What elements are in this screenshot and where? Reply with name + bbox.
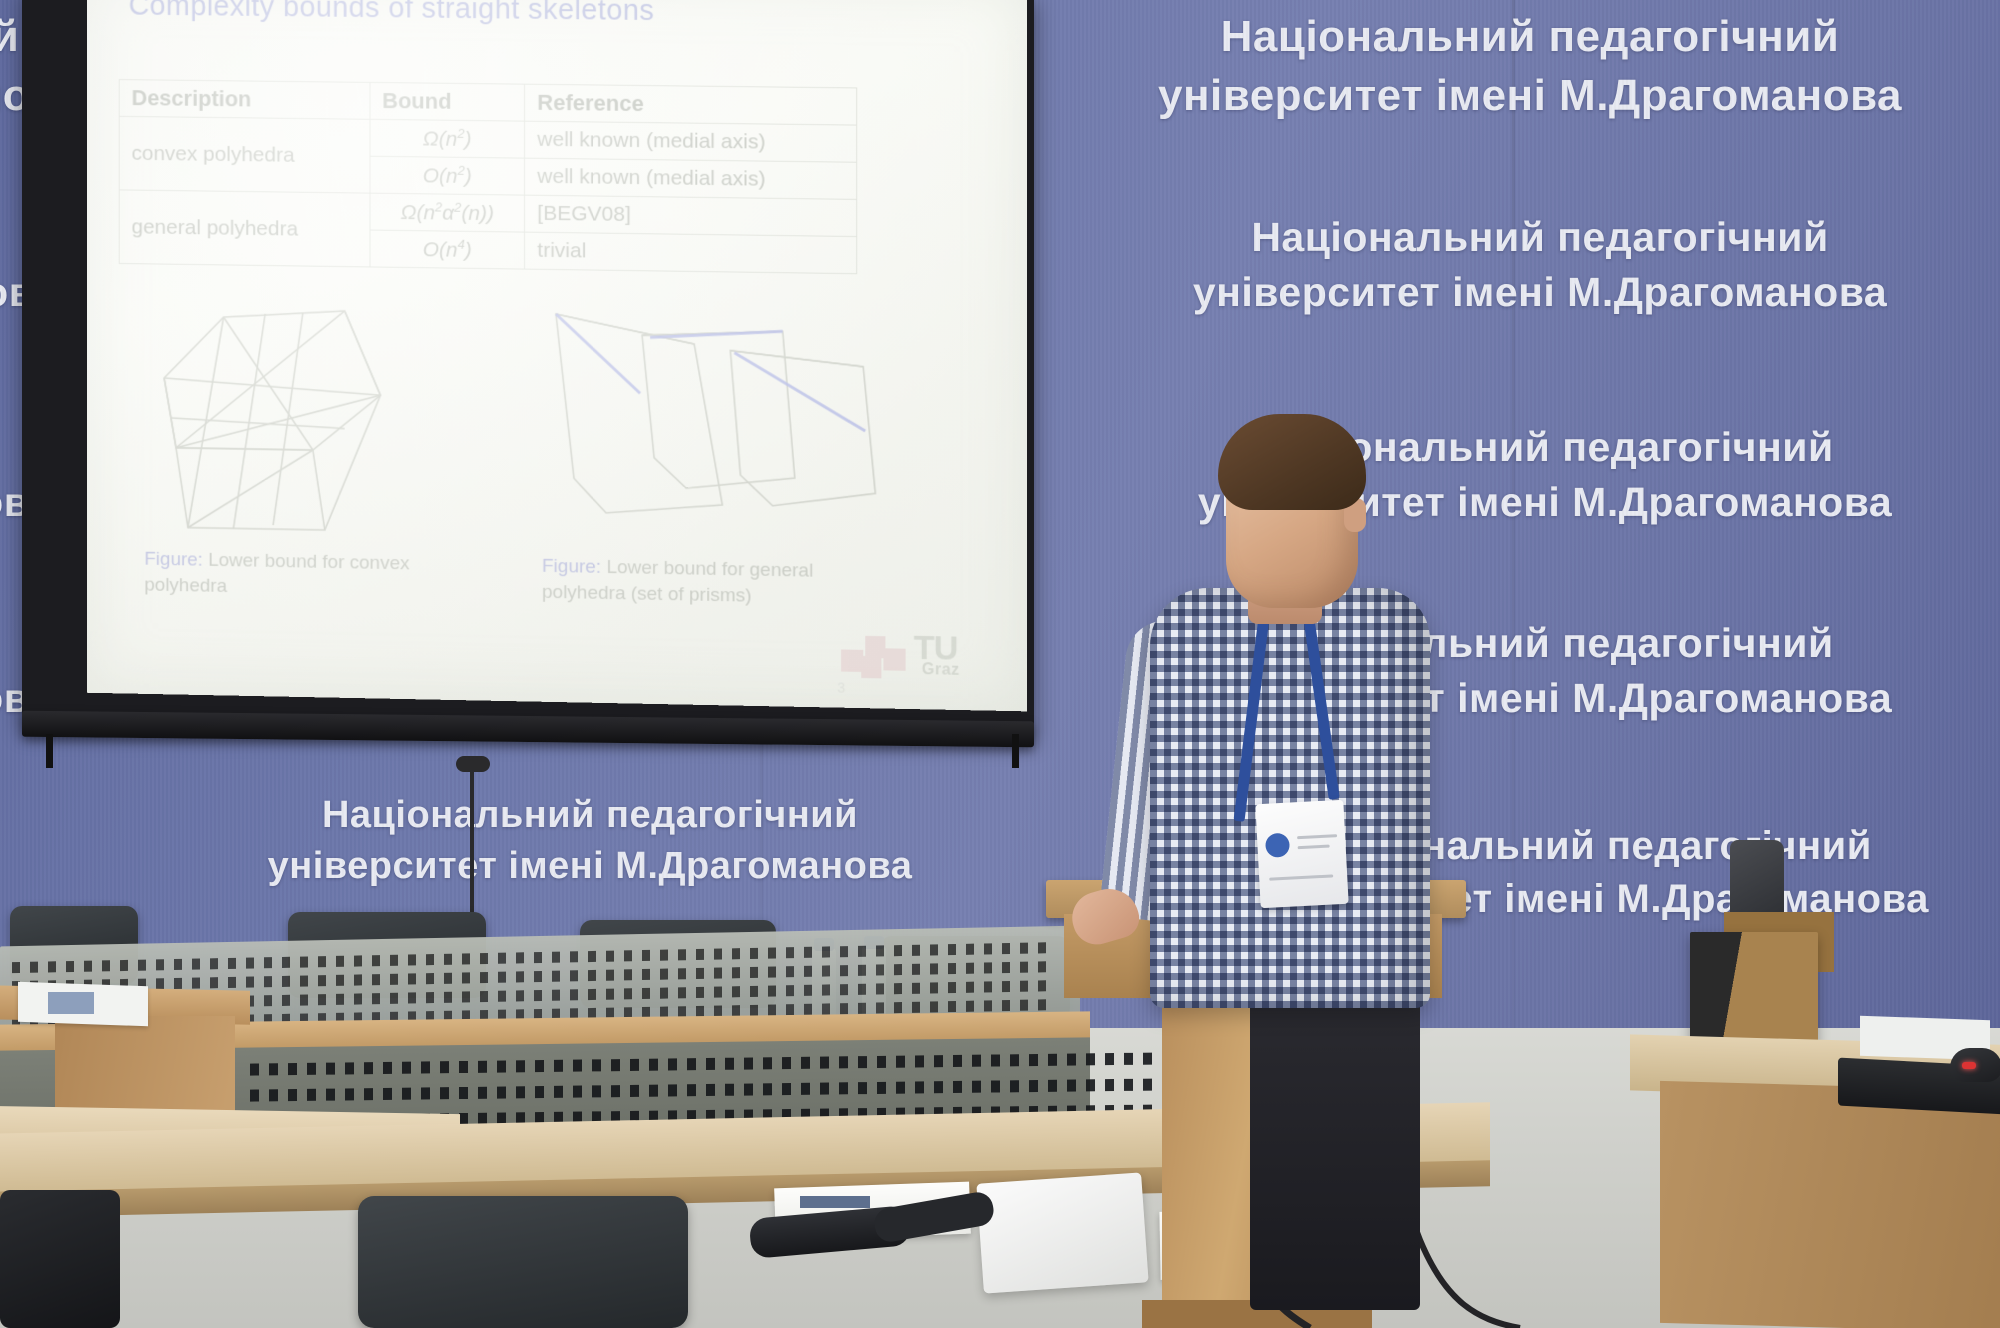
panel-perforation — [246, 976, 254, 987]
bench-perforation — [763, 1083, 772, 1095]
bench-perforation — [421, 1087, 430, 1099]
panel-perforation — [768, 985, 776, 996]
panel-perforation — [174, 959, 182, 970]
tu-graz-mark-icon — [839, 629, 912, 687]
bench-perforation — [1010, 1080, 1019, 1092]
panel-perforation — [678, 949, 686, 960]
slide-figures: Figure: Lower bound for convex polyhedra… — [117, 300, 997, 604]
panel-perforation — [300, 994, 308, 1005]
panel-perforation — [696, 949, 704, 960]
panel-perforation — [516, 971, 524, 982]
panel-perforation — [714, 987, 722, 998]
table-row: convex polyhedra Ω(n2) well known (media… — [119, 116, 857, 162]
panel-perforation — [228, 958, 236, 969]
panel-perforation — [498, 991, 506, 1002]
panel-perforation — [84, 961, 92, 972]
bench-perforation — [592, 1085, 601, 1097]
panel-perforation — [606, 970, 614, 981]
bench-perforation — [288, 1063, 297, 1075]
cell-reference: trivial — [525, 232, 857, 274]
bench-perforation — [649, 1085, 658, 1097]
panel-perforation — [930, 1001, 938, 1012]
bench-perforation — [364, 1062, 373, 1074]
panel-perforation — [804, 985, 812, 996]
banner-text-block: Національний педагогічний університет ім… — [1080, 210, 2000, 319]
panel-perforation — [858, 1003, 866, 1014]
panel-perforation — [1038, 980, 1046, 991]
panel-perforation — [750, 1005, 758, 1016]
panel-perforation — [588, 989, 596, 1000]
screen-leg — [46, 734, 53, 768]
panel-perforation — [804, 947, 812, 958]
conference-photo-scene: Національний педагогічний університет ім… — [0, 0, 2000, 1328]
bench-perforation — [668, 1058, 677, 1070]
panel-perforation — [516, 990, 524, 1001]
panel-perforation — [534, 971, 542, 982]
panel-perforation — [282, 995, 290, 1006]
panel-perforation — [444, 992, 452, 1003]
panel-perforation — [246, 957, 254, 968]
handout-label — [800, 1196, 870, 1208]
screen-leg — [1012, 734, 1019, 768]
panel-perforation — [462, 991, 470, 1002]
bench-perforation — [497, 1086, 506, 1098]
bench-perforation — [440, 1061, 449, 1073]
bench-perforation — [440, 1087, 449, 1099]
panel-perforation — [30, 962, 38, 973]
panel-perforation — [912, 1002, 920, 1013]
panel-perforation — [786, 985, 794, 996]
panel-perforation — [714, 949, 722, 960]
bench-perforation — [1010, 1054, 1019, 1066]
bench-perforation — [668, 1084, 677, 1096]
bench-perforation — [250, 1089, 259, 1101]
bench-perforation — [706, 1084, 715, 1096]
panel-perforation — [444, 973, 452, 984]
panel-perforation — [822, 965, 830, 976]
panel-perforation — [1020, 981, 1028, 992]
panel-perforation — [840, 946, 848, 957]
panel-perforation — [1020, 962, 1028, 973]
panel-perforation — [552, 990, 560, 1001]
panel-perforation — [894, 945, 902, 956]
badge-text-line — [1297, 834, 1337, 839]
bench-perforation — [858, 1082, 867, 1094]
panel-perforation — [930, 982, 938, 993]
panel-perforation — [768, 1004, 776, 1015]
panel-perforation — [66, 961, 74, 972]
bench-perforation — [972, 1055, 981, 1067]
panel-perforation — [840, 965, 848, 976]
panel-perforation — [858, 984, 866, 995]
banner-line-2: університет імені М.Драгоманова — [190, 841, 990, 892]
panel-perforation — [768, 947, 776, 958]
panel-perforation — [822, 984, 830, 995]
banner-line-2: університет імені М.Драгоманова — [1080, 265, 2000, 320]
panel-perforation — [948, 1001, 956, 1012]
panel-perforation — [354, 993, 362, 1004]
cell-bound: O(n2) — [370, 156, 525, 195]
bench-perforation — [706, 1058, 715, 1070]
bench-perforation — [535, 1086, 544, 1098]
panel-perforation — [1002, 1000, 1010, 1011]
bench-perforation — [516, 1086, 525, 1098]
bench-perforation — [288, 1089, 297, 1101]
panel-perforation — [750, 948, 758, 959]
panel-perforation — [264, 957, 272, 968]
tu-logo-sub: Graz — [922, 661, 960, 680]
panel-perforation — [660, 988, 668, 999]
bench-perforation — [326, 1063, 335, 1075]
panel-perforation — [1020, 1000, 1028, 1011]
panel-perforation — [336, 994, 344, 1005]
bench-perforation — [820, 1057, 829, 1069]
panel-perforation — [372, 993, 380, 1004]
bench-perforation — [953, 1055, 962, 1067]
panel-perforation — [102, 960, 110, 971]
bench-perforation — [554, 1060, 563, 1072]
bench-perforation — [307, 1063, 316, 1075]
panel-perforation — [786, 966, 794, 977]
panel-perforation — [660, 950, 668, 961]
bench-perforation — [934, 1081, 943, 1093]
panel-perforation — [480, 953, 488, 964]
panel-perforation — [462, 953, 470, 964]
bench-perforation — [801, 1083, 810, 1095]
bench-perforation — [326, 1089, 335, 1101]
panel-perforation — [138, 960, 146, 971]
office-chair[interactable] — [0, 1190, 120, 1328]
cell-description: convex polyhedra — [119, 116, 370, 193]
panel-perforation — [642, 988, 650, 999]
bench-perforation — [364, 1088, 373, 1100]
panel-perforation — [984, 962, 992, 973]
bench-perforation — [269, 1063, 278, 1075]
panel-perforation — [264, 995, 272, 1006]
cell-reference: [BEGV08] — [525, 195, 857, 236]
panel-perforation — [966, 1001, 974, 1012]
panel-perforation — [912, 945, 920, 956]
bench-perforation — [459, 1061, 468, 1073]
panel-perforation — [426, 954, 434, 965]
panel-perforation — [516, 952, 524, 963]
panel-perforation — [948, 982, 956, 993]
panel-perforation — [498, 972, 506, 983]
banner-line-2: університет імені М.Драгоманова — [1060, 67, 2000, 126]
bench-perforation — [573, 1086, 582, 1098]
panel-perforation — [966, 963, 974, 974]
banner-line-1: Національний педагогічний — [1060, 8, 2000, 67]
bench-perforation — [630, 1085, 639, 1097]
panel-perforation — [1038, 942, 1046, 953]
panel-perforation — [876, 1002, 884, 1013]
panel-perforation — [642, 950, 650, 961]
panel-perforation — [822, 946, 830, 957]
slide-title: Complexity bounds of straight skeletons — [129, 0, 655, 28]
convex-polyhedron-wireframe — [146, 300, 444, 554]
bench-perforation — [345, 1088, 354, 1100]
panel-perforation — [426, 992, 434, 1003]
bench-perforation — [592, 1059, 601, 1071]
slide-page-number: 3 — [837, 680, 845, 696]
handout-image — [48, 992, 94, 1014]
panel-perforation — [660, 969, 668, 980]
panel-perforation — [408, 973, 416, 984]
panel-perforation — [426, 973, 434, 984]
panel-perforation — [480, 972, 488, 983]
bench-perforation — [877, 1056, 886, 1068]
bench-perforation — [611, 1059, 620, 1071]
panel-perforation — [552, 971, 560, 982]
panel-perforation — [300, 956, 308, 967]
panel-perforation — [840, 984, 848, 995]
panel-perforation — [876, 945, 884, 956]
figure-caption: Figure: Lower bound for general polyhedr… — [542, 554, 873, 611]
panel-perforation — [120, 960, 128, 971]
bench-perforation — [649, 1059, 658, 1071]
bench-perforation — [839, 1056, 848, 1068]
panel-perforation — [570, 951, 578, 962]
bench-perforation — [953, 1081, 962, 1093]
bench-perforation — [402, 1062, 411, 1074]
bench-perforation — [630, 1059, 639, 1071]
tu-graz-logo: TU Graz — [839, 625, 990, 688]
conference-badge — [1255, 800, 1348, 908]
bench-perforation — [478, 1061, 487, 1073]
panel-perforation — [624, 950, 632, 961]
bench-perforation — [459, 1087, 468, 1099]
bench-perforation — [915, 1055, 924, 1067]
bench-perforation — [402, 1088, 411, 1100]
cell-reference: well known (medial axis) — [525, 158, 857, 199]
bench-perforation — [896, 1056, 905, 1068]
panel-perforation — [732, 967, 740, 978]
banner-text-block: Національний педагогічний університет ім… — [1060, 8, 2000, 125]
panel-perforation — [1038, 961, 1046, 972]
bench-perforation — [611, 1085, 620, 1097]
panel-perforation — [534, 952, 542, 963]
cell-description: general polyhedra — [119, 190, 370, 267]
bench-perforation — [896, 1082, 905, 1094]
panel-perforation — [696, 968, 704, 979]
panel-perforation — [372, 955, 380, 966]
cell-reference: well known (medial axis) — [525, 121, 857, 162]
panel-perforation — [462, 972, 470, 983]
bench-perforation — [801, 1057, 810, 1069]
badge-text-line — [1269, 874, 1333, 880]
bench-perforation — [744, 1083, 753, 1095]
panel-perforation — [930, 944, 938, 955]
panel-perforation — [858, 965, 866, 976]
bench-perforation — [345, 1062, 354, 1074]
presenter-shirt — [1150, 588, 1430, 1008]
bench-perforation — [1029, 1054, 1038, 1066]
panel-perforation — [228, 977, 236, 988]
bench-perforation — [516, 1060, 525, 1072]
bench-perforation — [535, 1060, 544, 1072]
panel-perforation — [606, 989, 614, 1000]
cell-bound: Ω(n2α2(n)) — [370, 193, 525, 232]
bench-perforation — [744, 1057, 753, 1069]
panel-perforation — [732, 948, 740, 959]
bench-perforation — [554, 1086, 563, 1098]
panel-perforation — [390, 955, 398, 966]
panel-perforation — [336, 956, 344, 967]
panel-perforation — [282, 976, 290, 987]
panel-perforation — [408, 992, 416, 1003]
bench-perforation — [421, 1061, 430, 1073]
bench-perforation — [573, 1060, 582, 1072]
panel-perforation — [336, 975, 344, 986]
panel-perforation — [786, 1004, 794, 1015]
bench-perforation — [687, 1084, 696, 1096]
panel-perforation — [948, 963, 956, 974]
panel-perforation — [984, 981, 992, 992]
banner-line-1: Національний педагогічний — [190, 790, 990, 841]
panel-perforation — [840, 1003, 848, 1014]
bench-perforation — [307, 1089, 316, 1101]
badge-logo-icon — [1265, 833, 1290, 858]
panel-perforation — [678, 987, 686, 998]
panel-perforation — [912, 964, 920, 975]
panel-perforation — [534, 990, 542, 1001]
panel-perforation — [12, 962, 20, 973]
presentation-slide: Complexity bounds of straight skeletons … — [87, 0, 1027, 711]
bench-perforation — [877, 1082, 886, 1094]
bench-perforation — [497, 1060, 506, 1072]
bench-perforation — [820, 1083, 829, 1095]
cell-bound: O(n4) — [370, 230, 525, 269]
panel-perforation — [750, 986, 758, 997]
panel-perforation — [948, 944, 956, 955]
col-header-description: Description — [119, 80, 370, 120]
panel-perforation — [858, 946, 866, 957]
panel-perforation — [1002, 943, 1010, 954]
panel-perforation — [894, 983, 902, 994]
bench-perforation — [687, 1058, 696, 1070]
panel-perforation — [174, 978, 182, 989]
panel-perforation — [786, 947, 794, 958]
presenter-trousers — [1250, 980, 1420, 1310]
panel-perforation — [588, 970, 596, 981]
panel-perforation — [318, 994, 326, 1005]
prism-set-wireframe — [544, 306, 885, 562]
bench-perforation — [1029, 1080, 1038, 1092]
panel-perforation — [156, 959, 164, 970]
badge-text-line — [1298, 845, 1330, 850]
panel-perforation — [714, 968, 722, 979]
bench-perforation — [782, 1083, 791, 1095]
panel-perforation — [804, 1004, 812, 1015]
panel-perforation — [1038, 999, 1046, 1010]
bench-perforation — [915, 1081, 924, 1093]
panel-perforation — [966, 944, 974, 955]
panel-perforation — [210, 977, 218, 988]
panel-perforation — [498, 953, 506, 964]
bench-perforation — [250, 1063, 259, 1075]
cell-bound: Ω(n2) — [370, 119, 525, 158]
panel-perforation — [624, 988, 632, 999]
banner-text-block: Національний педагогічний університет ім… — [190, 790, 990, 891]
panel-perforation — [912, 983, 920, 994]
panel-perforation — [624, 969, 632, 980]
panel-perforation — [822, 1003, 830, 1014]
panel-perforation — [318, 956, 326, 967]
bench-perforation — [763, 1057, 772, 1069]
panel-perforation — [192, 959, 200, 970]
mouse-led-icon — [1962, 1062, 1976, 1069]
panel-perforation — [282, 957, 290, 968]
panel-perforation — [1002, 981, 1010, 992]
panel-perforation — [390, 993, 398, 1004]
complexity-bounds-table: Description Bound Reference convex polyh… — [119, 79, 858, 274]
banner-line-1: Національний педагогічний — [1080, 210, 2000, 265]
panel-perforation — [354, 974, 362, 985]
panel-perforation — [552, 952, 560, 963]
panel-perforation — [876, 983, 884, 994]
bench-perforation — [269, 1089, 278, 1101]
panel-perforation — [444, 954, 452, 965]
panel-perforation — [588, 951, 596, 962]
figure-caption-label: Figure: — [542, 556, 601, 578]
bench-perforation — [478, 1087, 487, 1099]
panel-perforation — [930, 963, 938, 974]
panel-perforation — [894, 1002, 902, 1013]
panel-perforation — [606, 951, 614, 962]
bench-perforation — [858, 1056, 867, 1068]
panel-perforation — [570, 989, 578, 1000]
bench-perforation — [725, 1058, 734, 1070]
panel-perforation — [192, 978, 200, 989]
panel-perforation — [768, 966, 776, 977]
projection-screen: Complexity bounds of straight skeletons … — [22, 0, 1042, 780]
panel-perforation — [732, 986, 740, 997]
bench-perforation — [991, 1080, 1000, 1092]
right-desk-body — [1660, 1081, 2000, 1328]
bench-perforation — [934, 1055, 943, 1067]
bench-perforation — [725, 1084, 734, 1096]
panel-perforation — [318, 975, 326, 986]
panel-perforation — [1002, 962, 1010, 973]
panel-perforation — [264, 976, 272, 987]
col-header-reference: Reference — [525, 84, 857, 125]
panel-perforation — [894, 964, 902, 975]
panel-perforation — [984, 943, 992, 954]
bench-perforation — [972, 1081, 981, 1093]
panel-perforation — [678, 968, 686, 979]
bench-perforation — [782, 1057, 791, 1069]
office-chair[interactable] — [358, 1196, 688, 1328]
panel-perforation — [696, 987, 704, 998]
bench-perforation — [991, 1054, 1000, 1066]
bench-perforation — [383, 1088, 392, 1100]
figure-caption-label: Figure: — [144, 549, 203, 571]
panel-perforation — [1020, 943, 1028, 954]
panel-perforation — [876, 964, 884, 975]
panel-perforation — [480, 991, 488, 1002]
panel-perforation — [300, 975, 308, 986]
panel-perforation — [984, 1000, 992, 1011]
panel-perforation — [804, 966, 812, 977]
panel-perforation — [570, 970, 578, 981]
col-header-bound: Bound — [370, 82, 525, 121]
panel-perforation — [210, 958, 218, 969]
bench-perforation — [839, 1082, 848, 1094]
panel-perforation — [372, 974, 380, 985]
panel-perforation — [156, 978, 164, 989]
panel-perforation — [354, 955, 362, 966]
panel-perforation — [750, 967, 758, 978]
